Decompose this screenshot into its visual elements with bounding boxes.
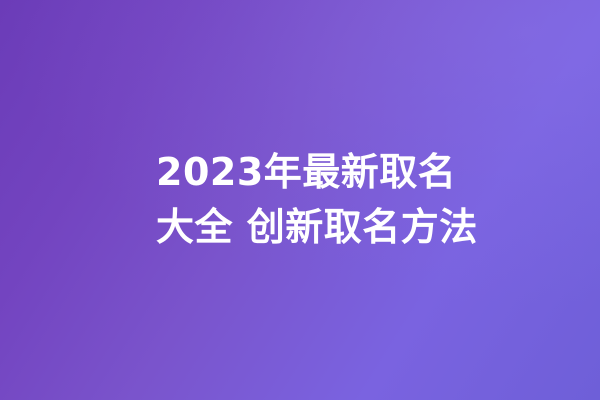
title-banner: 2023年最新取名 大全 创新取名方法 [0,0,600,400]
title-line-2: 大全 创新取名方法 [156,200,478,255]
page-title: 2023年最新取名 大全 创新取名方法 [156,145,478,255]
title-line-1: 2023年最新取名 [156,145,478,200]
